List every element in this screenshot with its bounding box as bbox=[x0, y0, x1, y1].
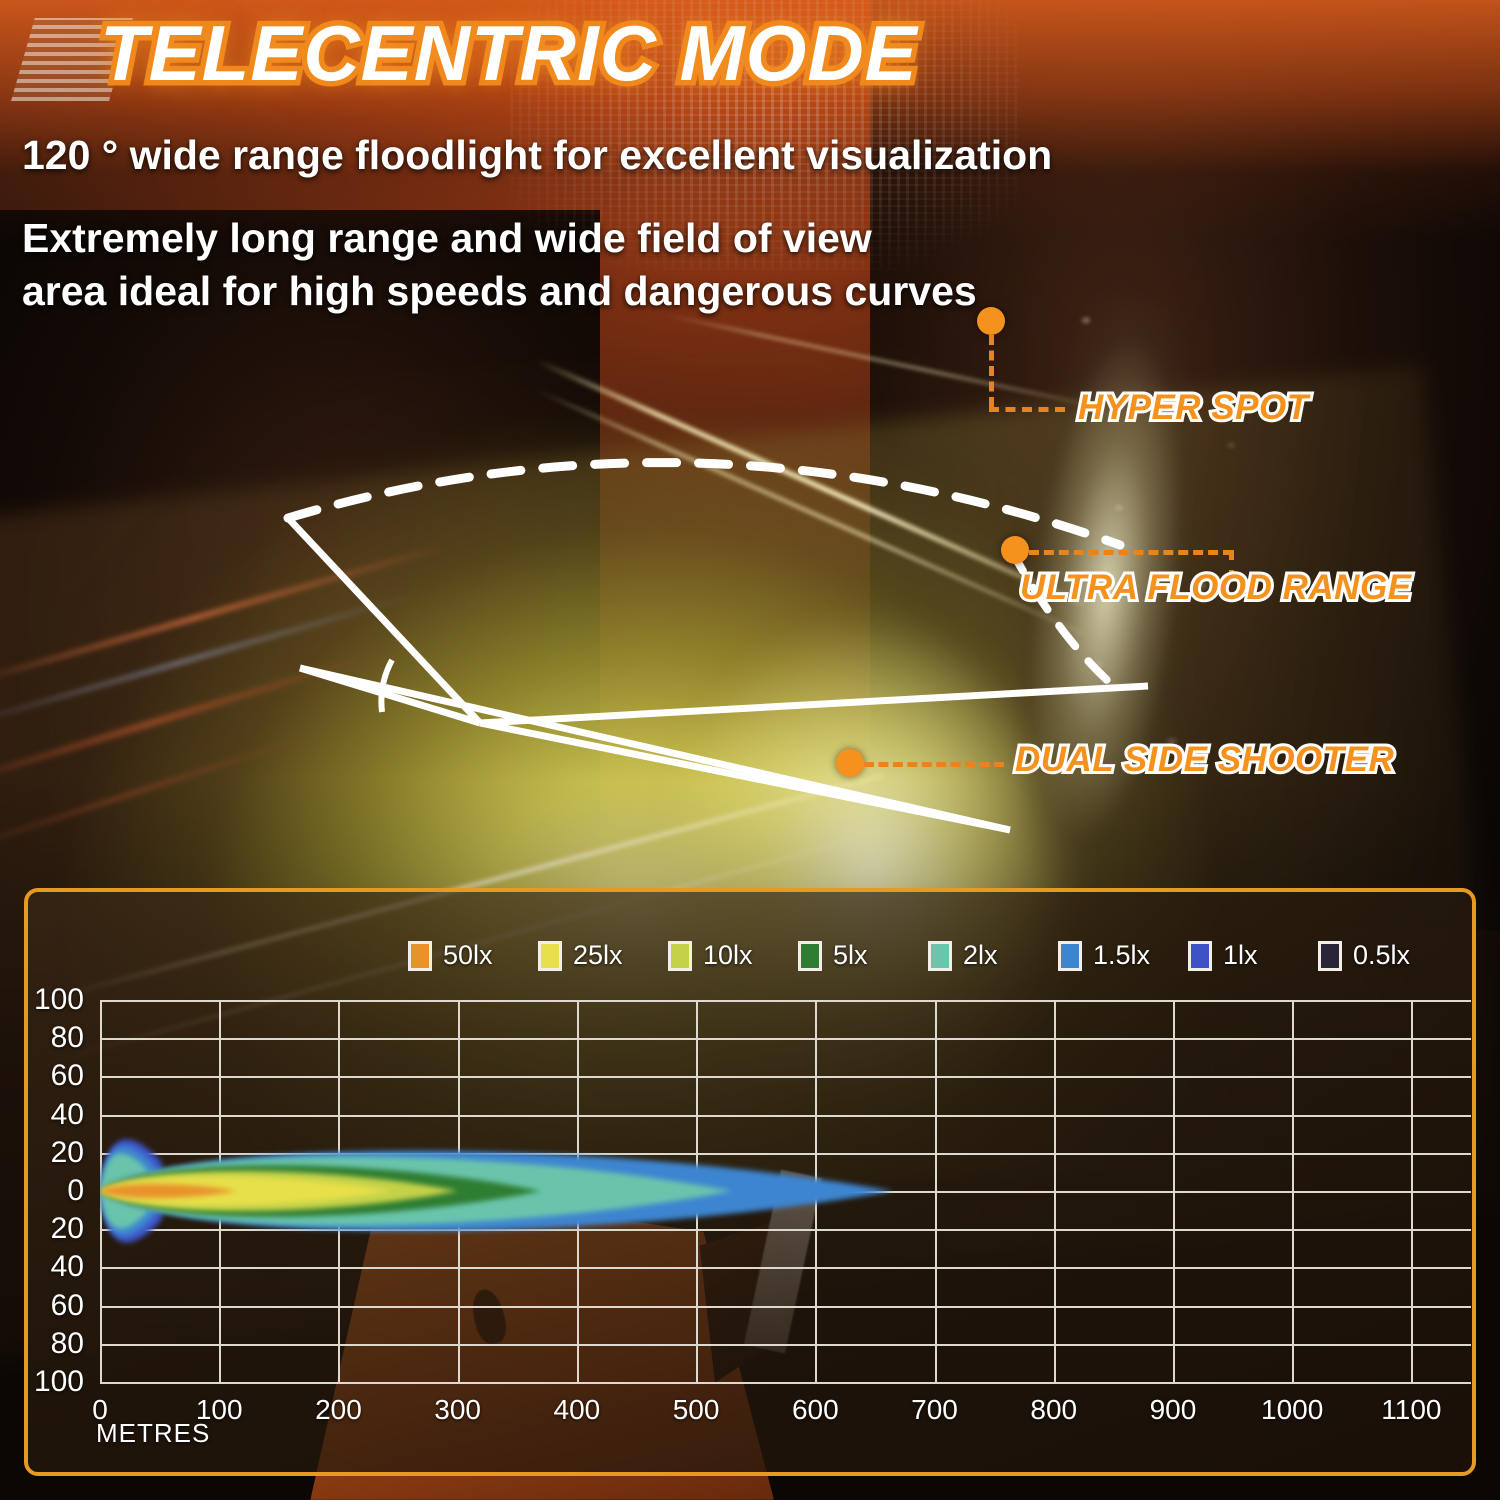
legend-label: 0.5lx bbox=[1353, 940, 1410, 971]
y-axis-tick: 80 bbox=[51, 1021, 84, 1055]
y-axis-tick: 20 bbox=[51, 1212, 84, 1246]
legend-item: 0.5lx bbox=[1318, 940, 1448, 971]
legend-swatch bbox=[928, 941, 952, 971]
legend-item: 1.5lx bbox=[1058, 940, 1188, 971]
legend-swatch bbox=[798, 941, 822, 971]
callout-dot-ultra-flood-range bbox=[1001, 536, 1029, 564]
legend-label: 10lx bbox=[703, 940, 753, 971]
y-axis-tick: 60 bbox=[51, 1059, 84, 1093]
callout-leader-horizontal-dual-side-shooter bbox=[864, 762, 1004, 767]
legend-item: 25lx bbox=[538, 940, 668, 971]
callout-leader-vertical-hyper-spot bbox=[989, 335, 994, 407]
chart-plot-area: 1008060402002040608010001002003004005006… bbox=[100, 1000, 1471, 1382]
x-axis-tick: 400 bbox=[554, 1394, 601, 1426]
legend-item: 50lx bbox=[408, 940, 538, 971]
legend-label: 50lx bbox=[443, 940, 493, 971]
legend-item: 5lx bbox=[798, 940, 928, 971]
x-axis-tick: 1100 bbox=[1381, 1394, 1441, 1426]
y-axis-tick: 40 bbox=[51, 1250, 84, 1284]
y-axis-tick: 20 bbox=[51, 1136, 84, 1170]
legend-item: 2lx bbox=[928, 940, 1058, 971]
callout-label-hyper-spot: HYPER SPOT bbox=[1078, 388, 1309, 428]
legend-swatch bbox=[1318, 941, 1342, 971]
subtitle-secondary: Extremely long range and wide field of v… bbox=[22, 212, 977, 319]
photometric-chart-panel: 50lx25lx10lx5lx2lx1.5lx1lx0.5lx 10080604… bbox=[24, 888, 1476, 1476]
y-axis-tick: 80 bbox=[51, 1327, 84, 1361]
x-axis-tick: 700 bbox=[911, 1394, 958, 1426]
callout-leader-horizontal-ultra-flood-range bbox=[1029, 550, 1233, 555]
legend-item: 1lx bbox=[1188, 940, 1318, 971]
subtitle-primary: 120 ° wide range floodlight for excellen… bbox=[22, 132, 1052, 179]
beam-pattern bbox=[100, 1000, 1471, 1382]
legend-label: 2lx bbox=[963, 940, 998, 971]
x-axis-label: METRES bbox=[96, 1418, 210, 1449]
legend-label: 1lx bbox=[1223, 940, 1258, 971]
legend-swatch bbox=[408, 941, 432, 971]
callout-label-dual-side-shooter: DUAL SIDE SHOOTER bbox=[1015, 740, 1394, 780]
subtitle-line-b: area ideal for high speeds and dangerous… bbox=[22, 265, 977, 318]
y-axis-tick: 60 bbox=[51, 1289, 84, 1323]
x-axis-tick: 300 bbox=[434, 1394, 481, 1426]
subtitle-line-a: Extremely long range and wide field of v… bbox=[22, 212, 977, 265]
callout-label-ultra-flood-range: ULTRA FLOOD RANGE bbox=[1020, 568, 1412, 608]
x-axis-tick: 1000 bbox=[1261, 1394, 1323, 1426]
y-axis-tick: 100 bbox=[34, 983, 84, 1017]
y-axis-tick: 40 bbox=[51, 1098, 84, 1132]
legend-item: 10lx bbox=[668, 940, 798, 971]
angle-ray-right bbox=[480, 686, 1148, 723]
y-axis-tick: 100 bbox=[34, 1365, 84, 1399]
x-axis-tick: 200 bbox=[315, 1394, 362, 1426]
x-axis-tick: 800 bbox=[1030, 1394, 1077, 1426]
legend-label: 5lx bbox=[833, 940, 868, 971]
legend-swatch bbox=[1058, 941, 1082, 971]
page-title: TELECENTRIC MODE bbox=[100, 8, 918, 99]
legend-swatch bbox=[1188, 941, 1212, 971]
callout-dot-dual-side-shooter bbox=[836, 749, 864, 777]
callout-dot-hyper-spot bbox=[977, 307, 1005, 335]
x-axis-tick: 500 bbox=[673, 1394, 720, 1426]
x-axis-tick: 900 bbox=[1150, 1394, 1197, 1426]
legend-label: 1.5lx bbox=[1093, 940, 1150, 971]
gridline-horizontal bbox=[100, 1382, 1471, 1384]
beam-arc-dashed bbox=[288, 463, 1120, 545]
y-axis-tick: 0 bbox=[67, 1174, 84, 1208]
angle-baseline bbox=[300, 668, 1010, 830]
callout-leader-horizontal-hyper-spot bbox=[989, 407, 1065, 412]
x-axis-tick: 600 bbox=[792, 1394, 839, 1426]
legend-swatch bbox=[668, 941, 692, 971]
legend-label: 25lx bbox=[573, 940, 623, 971]
legend-swatch bbox=[538, 941, 562, 971]
chart-legend: 50lx25lx10lx5lx2lx1.5lx1lx0.5lx bbox=[28, 940, 1472, 971]
